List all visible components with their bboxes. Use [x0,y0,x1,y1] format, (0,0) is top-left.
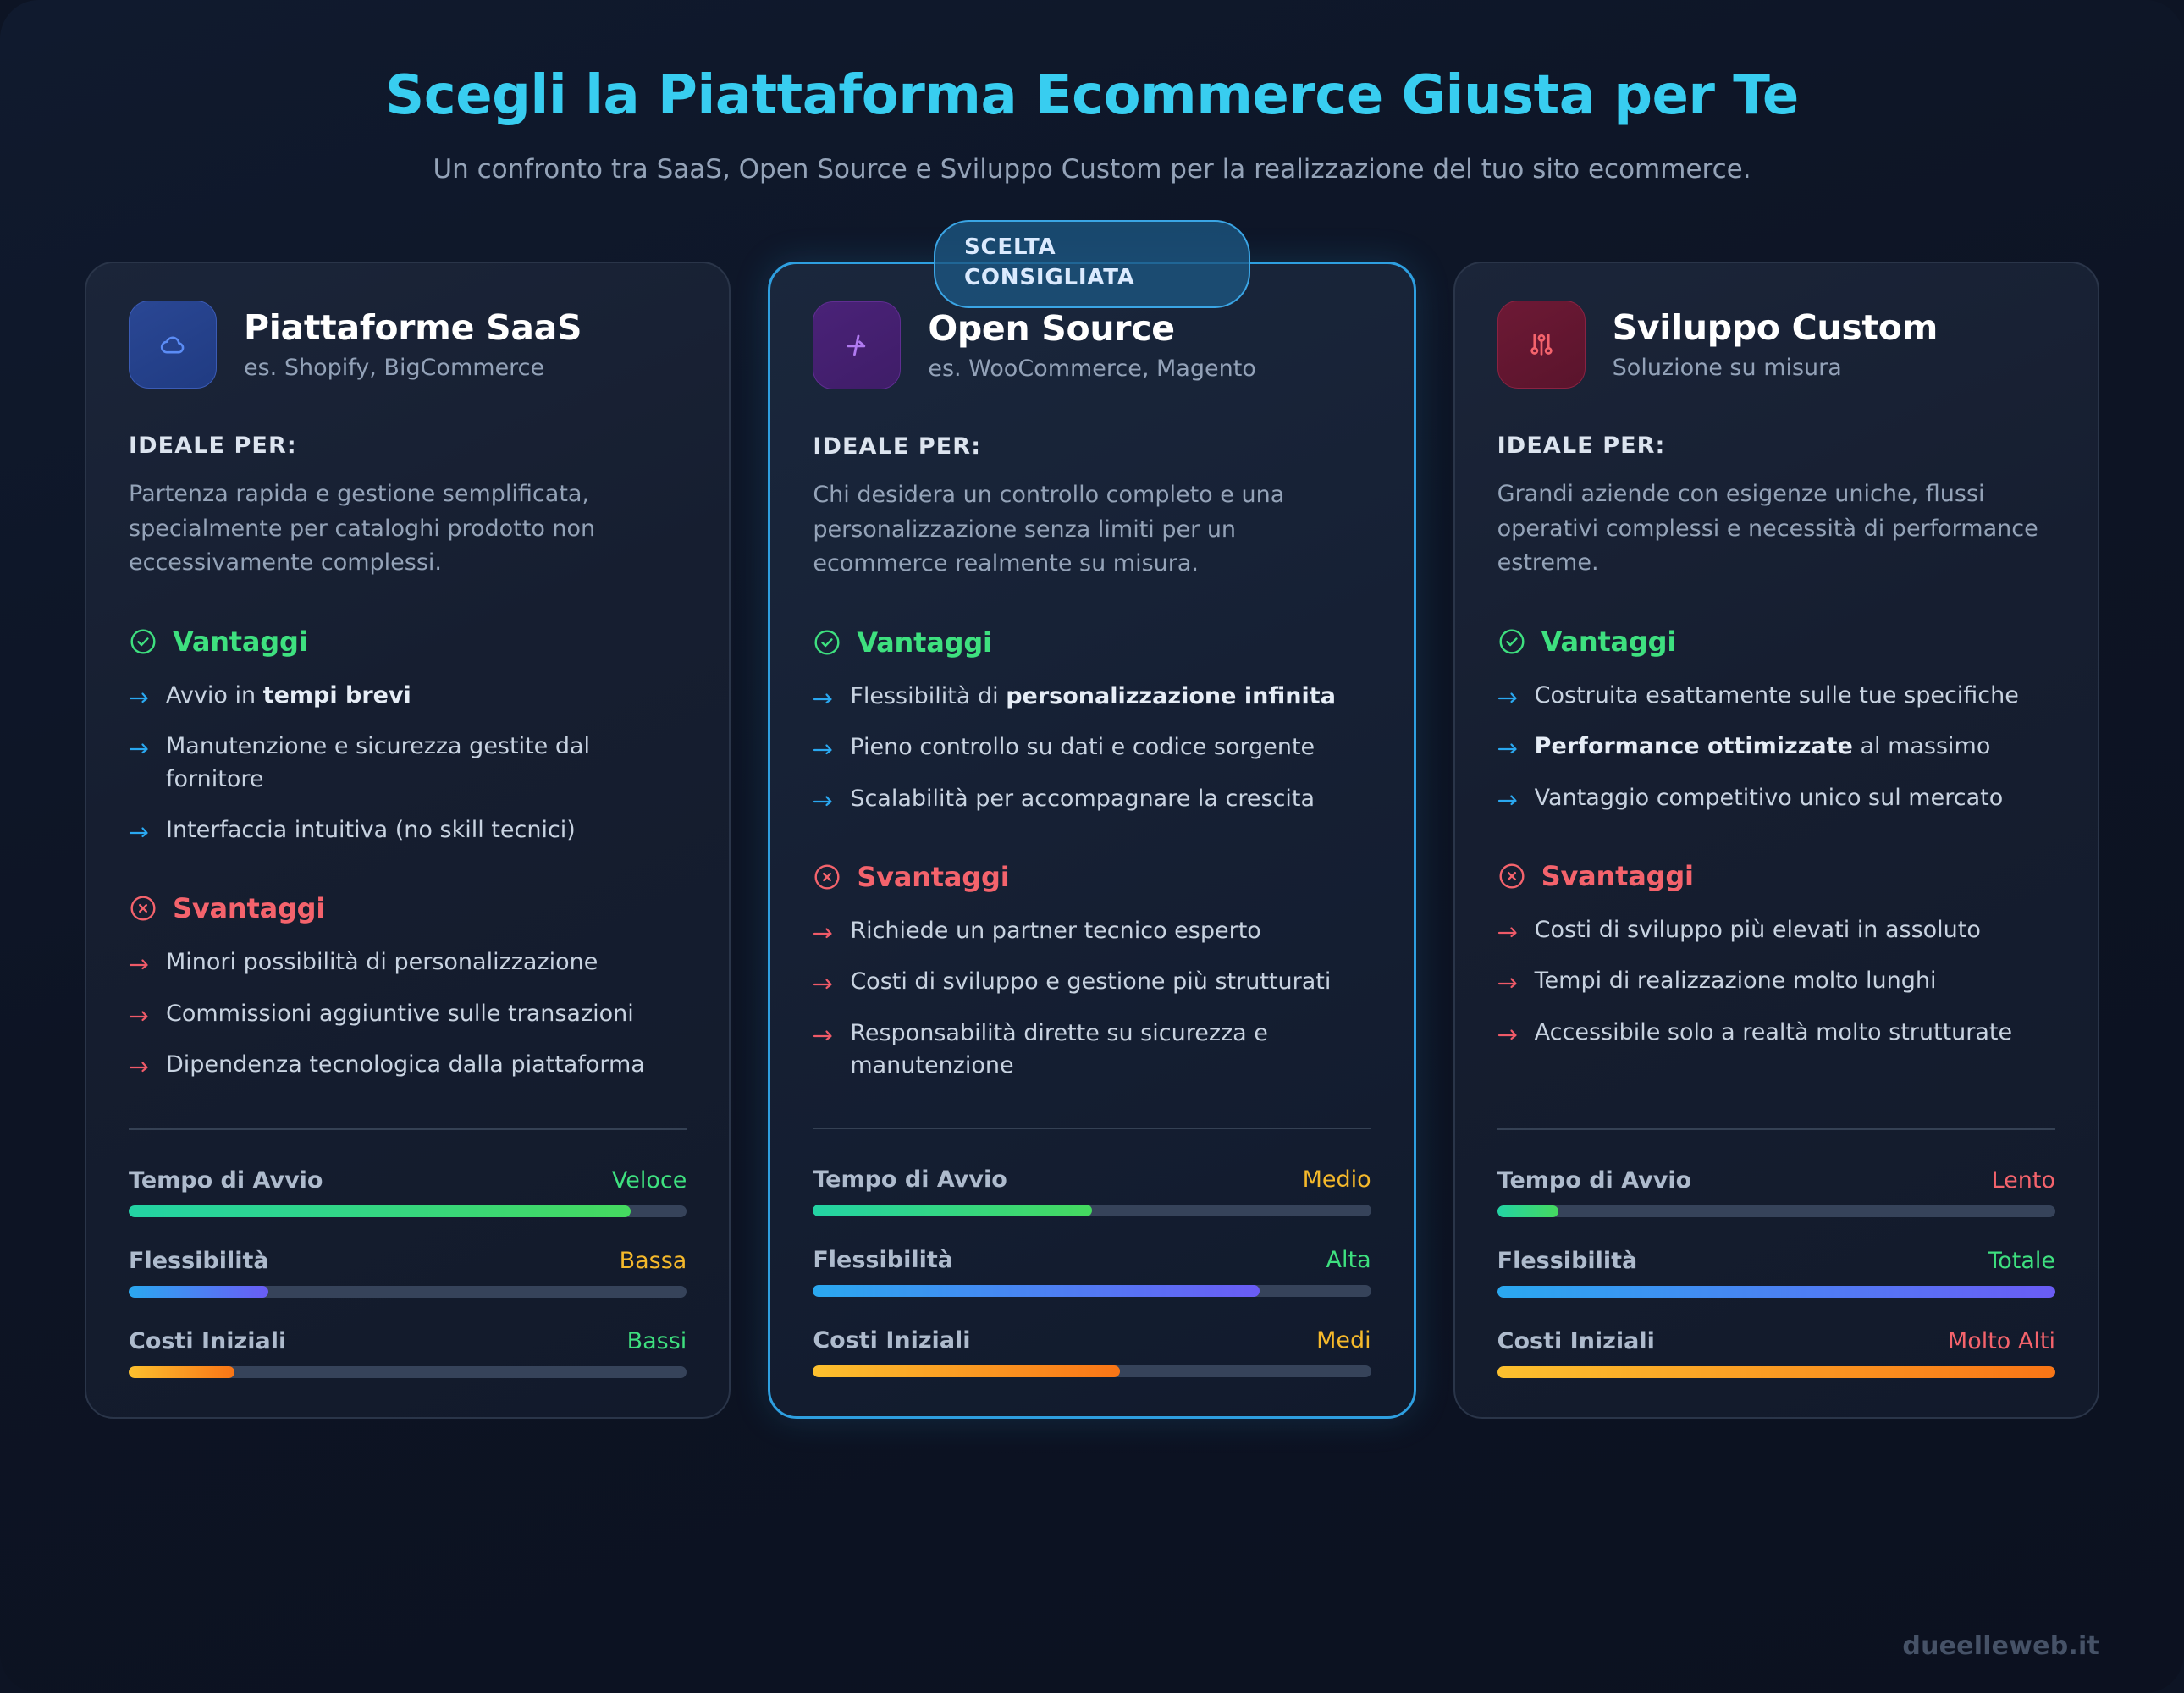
cons-title: Svantaggi [1541,860,1694,892]
list-item-label: Avvio in tempi brevi [166,680,411,712]
metric-track [129,1286,687,1298]
list-item-label: Accessibile solo a realtà molto struttur… [1535,1017,2012,1049]
ideal-for-label: IDEALE PER: [129,433,687,459]
pros-heading: Vantaggi [129,626,687,658]
arrow-right-icon [813,741,835,756]
pros-list: Costruita esattamente sulle tue specific… [1497,680,2055,814]
arrow-right-icon [129,824,151,839]
metric-track [1497,1366,2055,1378]
divider [129,1128,687,1130]
metric-fill [813,1205,1092,1216]
metric-value: Bassa [620,1248,687,1274]
badge-line-1: SCELTA [964,233,1220,263]
metric-fill [129,1286,268,1298]
metric-fill [813,1365,1120,1377]
list-item: Responsabilità dirette su sicurezza e ma… [813,1017,1371,1083]
ideal-for-text: Partenza rapida e gestione semplificata,… [129,477,687,580]
metric-row: Costi InizialiMolto Alti [1497,1328,2055,1378]
list-item: Tempi di realizzazione molto lunghi [1497,965,2055,997]
metric-track [813,1285,1371,1297]
pros-title: Vantaggi [1541,626,1676,658]
arrow-right-icon [1497,689,1519,704]
list-item: Commissioni aggiuntive sulle transazioni [129,998,687,1030]
card-header: Open Sourcees. WooCommerce, Magento [813,301,1371,389]
arrow-right-icon [1497,974,1519,990]
divider [813,1128,1371,1129]
card-subtitle: es. Shopify, BigCommerce [244,355,582,381]
pros-heading: Vantaggi [813,626,1371,659]
card-title: Sviluppo Custom [1613,309,1938,348]
metric-row: Tempo di AvvioLento [1497,1167,2055,1217]
cons-list: Minori possibilità di personalizzazioneC… [129,946,687,1081]
arrow-right-icon [813,1027,835,1042]
metric-label: Tempo di Avvio [813,1166,1007,1193]
metric-label: Flessibilità [129,1248,269,1274]
list-item: Costi di sviluppo più elevati in assolut… [1497,914,2055,946]
sparkle-icon [842,331,871,360]
metric-fill [1497,1205,1559,1217]
check-circle-icon [1497,627,1526,656]
recommended-badge: SCELTACONSIGLIATA [934,220,1250,308]
metric-track [129,1205,687,1217]
arrow-right-icon [129,956,151,971]
metric-fill [813,1285,1259,1297]
list-item: Richiede un partner tecnico esperto [813,915,1371,947]
metric-value: Lento [1992,1167,2055,1194]
metric-row: Tempo di AvvioMedio [813,1166,1371,1216]
metric-track [1497,1205,2055,1217]
metrics-section: Tempo di AvvioVeloceFlessibilitàBassaCos… [129,1083,687,1378]
watermark: dueelleweb.it [1902,1631,2099,1661]
metric-row: FlessibilitàTotale [1497,1248,2055,1298]
pros-heading: Vantaggi [1497,626,2055,658]
card-subtitle: es. WooCommerce, Magento [928,356,1256,382]
arrow-right-icon [129,1058,151,1073]
comparison-card-open-source[interactable]: SCELTACONSIGLIATAOpen Sourcees. WooComme… [768,262,1415,1419]
list-item: Manutenzione e sicurezza gestite dal for… [129,731,687,796]
metric-label: Tempo di Avvio [1497,1167,1691,1194]
list-item: Costi di sviluppo e gestione più struttu… [813,966,1371,998]
list-item-label: Minori possibilità di personalizzazione [166,946,598,979]
metric-label: Costi Iniziali [813,1327,970,1354]
card-header: Piattaforme SaaSes. Shopify, BigCommerce [129,301,687,389]
metric-fill [129,1366,234,1378]
list-item-label: Interfaccia intuitiva (no skill tecnici) [166,814,576,846]
x-circle-icon [813,863,841,891]
metric-track [813,1365,1371,1377]
metric-track [1497,1286,2055,1298]
metric-value: Molto Alti [1948,1328,2055,1354]
list-item: Interfaccia intuitiva (no skill tecnici) [129,814,687,846]
metric-label: Costi Iniziali [129,1328,286,1354]
metric-fill [129,1205,631,1217]
list-item-label: Commissioni aggiuntive sulle transazioni [166,998,634,1030]
metric-label: Flessibilità [1497,1248,1638,1274]
arrow-right-icon [813,924,835,940]
list-item-label: Costi di sviluppo più elevati in assolut… [1535,914,1981,946]
metric-row: Tempo di AvvioVeloce [129,1167,687,1217]
metric-track [813,1205,1371,1216]
page-title: Scegli la Piattaforma Ecommerce Giusta p… [85,66,2099,125]
metric-label: Costi Iniziali [1497,1328,1655,1354]
list-item-label: Manutenzione e sicurezza gestite dal for… [166,731,687,796]
sliders-icon-container [1497,301,1586,389]
cloud-icon [158,330,187,359]
metric-label: Tempo di Avvio [129,1167,323,1194]
cons-title: Svantaggi [173,892,325,924]
comparison-card-saas[interactable]: Piattaforme SaaSes. Shopify, BigCommerce… [85,262,731,1419]
check-circle-icon [813,628,841,657]
card-subtitle: Soluzione su misura [1613,355,1938,381]
pros-list: Flessibilità di personalizzazione infini… [813,681,1371,815]
arrow-right-icon [813,792,835,808]
list-item: Avvio in tempi brevi [129,680,687,712]
card-title: Open Source [928,310,1256,349]
arrow-right-icon [129,689,151,704]
metric-row: FlessibilitàBassa [129,1248,687,1298]
pros-list: Avvio in tempi breviManutenzione e sicur… [129,680,687,846]
list-item: Accessibile solo a realtà molto struttur… [1497,1017,2055,1049]
cons-heading: Svantaggi [129,892,687,924]
cons-list: Costi di sviluppo più elevati in assolut… [1497,914,2055,1049]
metric-value: Medio [1303,1166,1371,1193]
ideal-for-label: IDEALE PER: [1497,433,2055,459]
x-circle-icon [129,894,157,923]
metric-value: Alta [1326,1247,1371,1273]
arrow-right-icon [129,740,151,755]
ideal-for-text: Chi desidera un controllo completo e una… [813,478,1371,581]
divider [1497,1128,2055,1130]
arrow-right-icon [129,1007,151,1023]
arrow-right-icon [813,690,835,705]
list-item-label: Performance ottimizzate al massimo [1535,731,1991,763]
ideal-for-text: Grandi aziende con esigenze uniche, flus… [1497,477,2055,580]
metric-row: Costi InizialiMedi [813,1327,1371,1377]
metric-value: Veloce [612,1167,687,1194]
x-circle-icon [1497,862,1526,891]
card-header: Sviluppo CustomSoluzione su misura [1497,301,2055,389]
metric-track [129,1366,687,1378]
pros-title: Vantaggi [173,626,307,658]
cons-heading: Svantaggi [813,861,1371,893]
cons-list: Richiede un partner tecnico espertoCosti… [813,915,1371,1082]
list-item-label: Dipendenza tecnologica dalla piattaforma [166,1049,645,1081]
metric-label: Flessibilità [813,1247,953,1273]
list-item-label: Vantaggio competitivo unico sul mercato [1535,782,2004,814]
list-item: Performance ottimizzate al massimo [1497,731,2055,763]
arrow-right-icon [1497,791,1519,807]
list-item-label: Richiede un partner tecnico esperto [850,915,1261,947]
list-item-label: Tempi di realizzazione molto lunghi [1535,965,1937,997]
badge-line-2: CONSIGLIATA [964,263,1220,294]
page-subtitle: Un confronto tra SaaS, Open Source e Svi… [85,151,2099,189]
list-item: Costruita esattamente sulle tue specific… [1497,680,2055,712]
list-item: Pieno controllo su dati e codice sorgent… [813,731,1371,764]
pros-title: Vantaggi [857,626,991,659]
arrow-right-icon [1497,1026,1519,1041]
ideal-for-label: IDEALE PER: [813,433,1371,460]
infographic-page: Scegli la Piattaforma Ecommerce Giusta p… [0,0,2184,1693]
metric-row: FlessibilitàAlta [813,1247,1371,1297]
metric-value: Medi [1316,1327,1371,1354]
list-item: Minori possibilità di personalizzazione [129,946,687,979]
metrics-section: Tempo di AvvioMedioFlessibilitàAltaCosti… [813,1082,1371,1377]
header: Scegli la Piattaforma Ecommerce Giusta p… [85,0,2099,189]
list-item-label: Responsabilità dirette su sicurezza e ma… [850,1017,1371,1083]
list-item-label: Costruita esattamente sulle tue specific… [1535,680,2019,712]
cloud-icon-container [129,301,217,389]
metric-fill [1497,1286,2055,1298]
metric-value: Bassi [627,1328,687,1354]
metric-value: Totale [1988,1248,2055,1274]
cons-title: Svantaggi [857,861,1009,893]
cons-heading: Svantaggi [1497,860,2055,892]
list-item-label: Pieno controllo su dati e codice sorgent… [850,731,1315,764]
check-circle-icon [129,627,157,656]
list-item: Vantaggio competitivo unico sul mercato [1497,782,2055,814]
metrics-section: Tempo di AvvioLentoFlessibilitàTotaleCos… [1497,1083,2055,1378]
list-item-label: Flessibilità di personalizzazione infini… [850,681,1336,713]
list-item: Dipendenza tecnologica dalla piattaforma [129,1049,687,1081]
list-item: Scalabilità per accompagnare la crescita [813,783,1371,815]
sliders-icon [1527,330,1556,359]
comparison-cards: Piattaforme SaaSes. Shopify, BigCommerce… [85,262,2099,1419]
arrow-right-icon [1497,740,1519,755]
comparison-card-custom[interactable]: Sviluppo CustomSoluzione su misuraIDEALE… [1453,262,2099,1419]
metric-row: Costi InizialiBassi [129,1328,687,1378]
arrow-right-icon [813,975,835,990]
metric-fill [1497,1366,2055,1378]
arrow-right-icon [1497,924,1519,939]
list-item: Flessibilità di personalizzazione infini… [813,681,1371,713]
list-item-label: Scalabilità per accompagnare la crescita [850,783,1315,815]
card-title: Piattaforme SaaS [244,309,582,348]
sparkle-icon-container [813,301,901,389]
list-item-label: Costi di sviluppo e gestione più struttu… [850,966,1331,998]
